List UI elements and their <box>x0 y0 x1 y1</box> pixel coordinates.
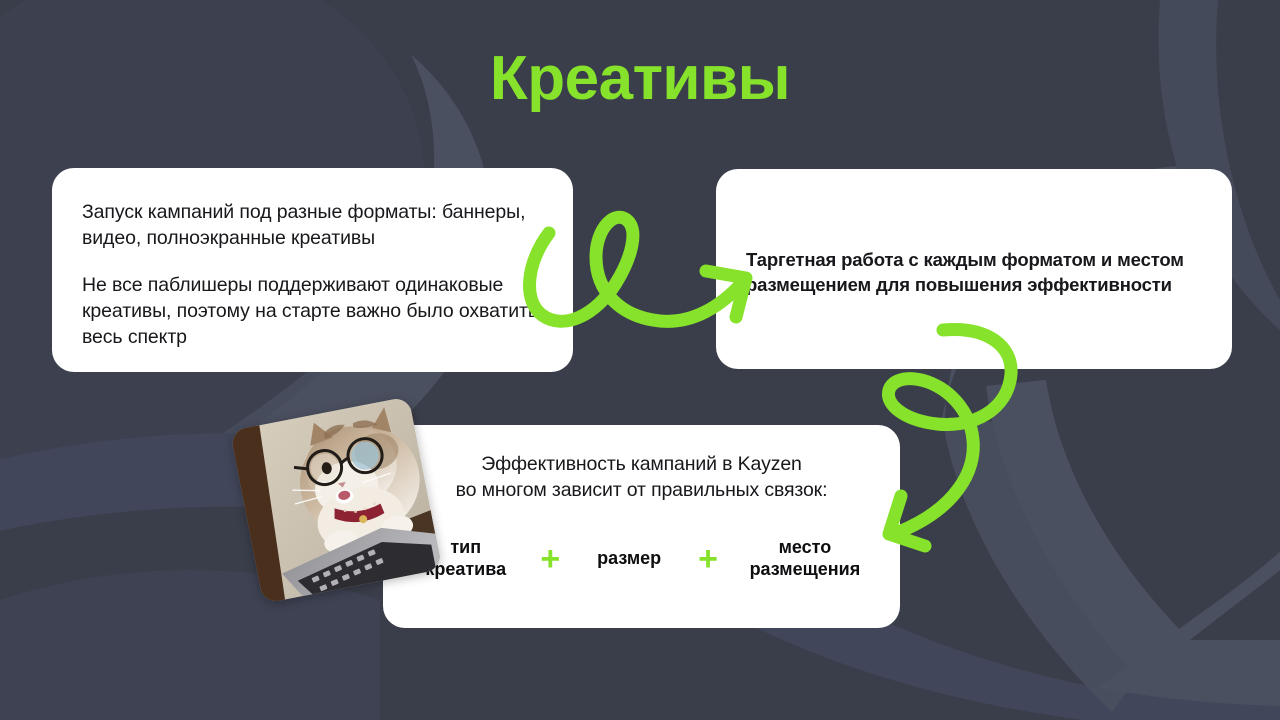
formula-term-placement: место размещения <box>730 536 880 581</box>
plus-icon-1: + <box>528 542 572 576</box>
card-left-paragraph-1: Запуск кампаний под разные форматы: банн… <box>82 200 539 251</box>
plus-icon-2: + <box>686 542 730 576</box>
formula-term-size: размер <box>572 547 686 569</box>
formula-row: тип креатива + размер + место размещения <box>403 536 880 581</box>
card-campaign-formats: Запуск кампаний под разные форматы: банн… <box>52 168 573 372</box>
card-right-paragraph-1: Таргетная работа с каждым форматом и мес… <box>746 248 1202 298</box>
card-bottom-lead-line-2: во многом зависит от правильных связок: <box>403 477 880 503</box>
card-left-paragraph-2: Не все паблишеры поддерживают одинаковые… <box>82 273 539 350</box>
bg-shape-right-stripe <box>944 380 1190 712</box>
card-targeted-work: Таргетная работа с каждым форматом и мес… <box>716 169 1232 369</box>
cat-with-glasses-photo <box>230 396 442 603</box>
cat-photo-illustration <box>230 396 442 603</box>
page-title: Креативы <box>0 46 1280 111</box>
card-effectiveness-formula: Эффективность кампаний в Kayzen во много… <box>383 425 900 628</box>
card-bottom-lead-line-1: Эффективность кампаний в Kayzen <box>403 451 880 477</box>
bg-shape-left-wedge <box>0 570 380 720</box>
slide-canvas: Креативы Запуск кампаний под разные форм… <box>0 0 1280 720</box>
